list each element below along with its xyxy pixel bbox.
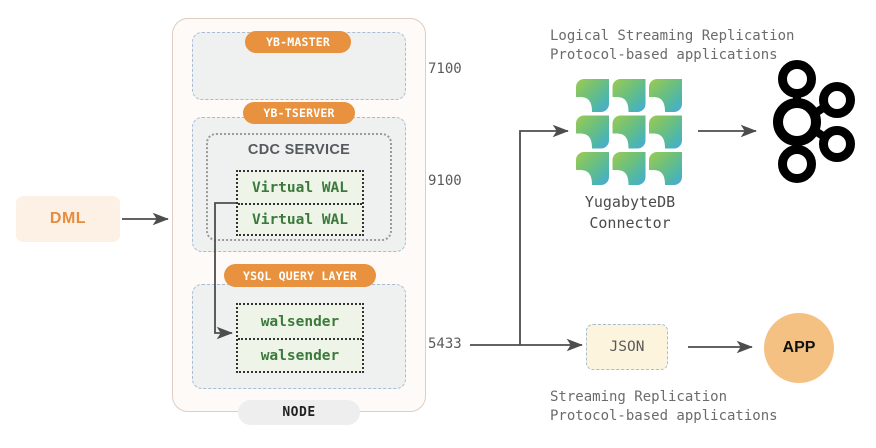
diagram-canvas: DML YB-MASTER CDC SERVICE Virtual WAL Vi… [0, 0, 876, 448]
ysql-query-layer-label: YSQL QUERY LAYER [243, 269, 357, 283]
app-circle: APP [764, 313, 834, 383]
cdc-service-title: CDC SERVICE [206, 142, 392, 158]
yb-master-badge: YB-MASTER [245, 31, 351, 53]
virtual-wal-item: Virtual WAL [238, 203, 362, 234]
walsender-item: walsender [238, 338, 362, 371]
virtual-wal-label: Virtual WAL [252, 212, 348, 228]
yb-tserver-label: YB-TSERVER [263, 106, 334, 120]
yb-tserver-badge: YB-TSERVER [243, 102, 355, 124]
ysql-query-layer-badge: YSQL QUERY LAYER [224, 264, 376, 287]
port-label-5433: 5433 [428, 336, 462, 352]
apache-kafka-logo-icon [766, 60, 862, 184]
node-badge: NODE [238, 400, 360, 425]
arrow-5433-to-connector [520, 131, 568, 345]
yugabytedb-logo-icon [576, 79, 682, 185]
yb-master-label: YB-MASTER [266, 35, 330, 49]
caption-logical-streaming: Logical Streaming Replication Protocol-b… [550, 27, 794, 65]
yugabytedb-connector-label: YugabyteDB Connector [546, 192, 714, 234]
dml-label: DML [50, 210, 86, 228]
node-label: NODE [282, 405, 315, 420]
caption-streaming-replication: Streaming Replication Protocol-based app… [550, 388, 778, 426]
dml-box: DML [16, 196, 120, 242]
virtual-wal-stack: Virtual WAL Virtual WAL [236, 170, 364, 236]
walsender-stack: walsender walsender [236, 303, 364, 373]
walsender-item: walsender [238, 305, 362, 338]
virtual-wal-item: Virtual WAL [238, 172, 362, 203]
json-box: JSON [586, 324, 668, 370]
port-label-9100: 9100 [428, 173, 462, 189]
app-label: APP [783, 339, 816, 357]
walsender-label: walsender [261, 314, 340, 330]
walsender-label: walsender [261, 348, 340, 364]
json-label: JSON [610, 339, 645, 355]
port-label-7100: 7100 [428, 61, 462, 77]
virtual-wal-label: Virtual WAL [252, 180, 348, 196]
